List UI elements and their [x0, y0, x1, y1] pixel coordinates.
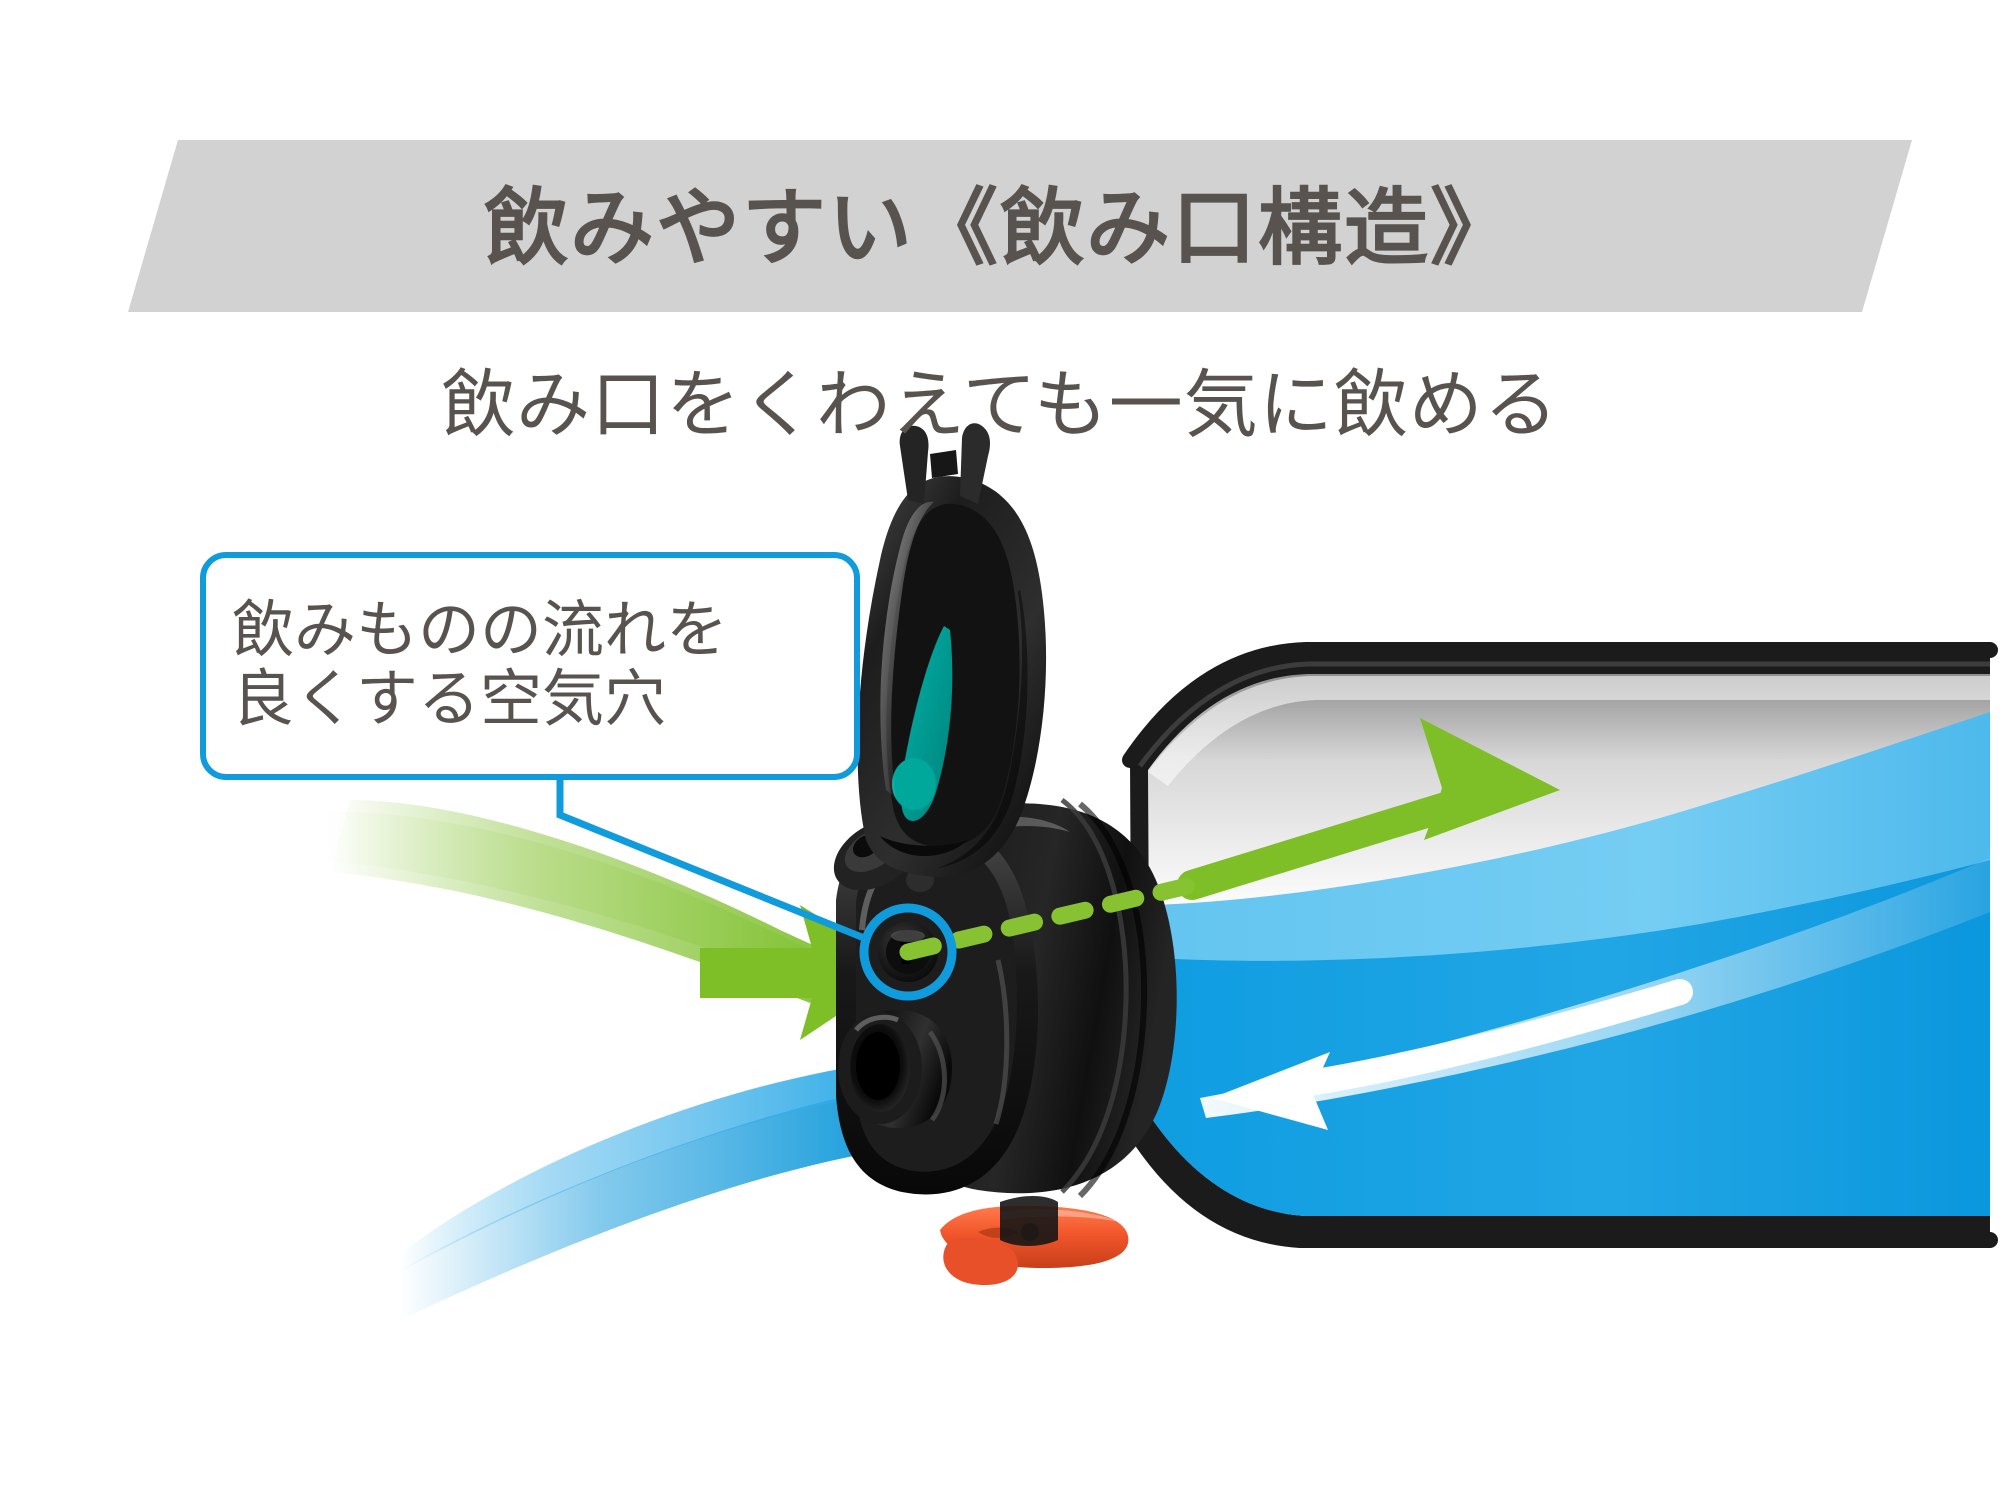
air-hole-callout: 飲みものの流れを 良くする空気穴	[200, 552, 860, 780]
lock-lever	[940, 1196, 1128, 1285]
bottle-body	[1130, 650, 1990, 1240]
illustration-canvas: 飲みやすい《飲み口構造》 飲み口をくわえても一気に飲める 飲みものの流れを 良く…	[0, 0, 2000, 1500]
title-banner: 飲みやすい《飲み口構造》	[0, 0, 2000, 340]
flip-lid	[858, 423, 1046, 877]
callout-line-1: 飲みものの流れを	[232, 595, 854, 664]
drinking-spout	[838, 1010, 952, 1128]
bottle-cap-assembly	[821, 423, 1177, 1285]
page-subtitle: 飲み口をくわえても一気に飲める	[0, 345, 2000, 452]
callout-line-2: 良くする空気穴	[232, 664, 854, 733]
page-title: 飲みやすい《飲み口構造》	[0, 140, 2000, 315]
liquid-out-ribbon	[400, 1060, 900, 1320]
